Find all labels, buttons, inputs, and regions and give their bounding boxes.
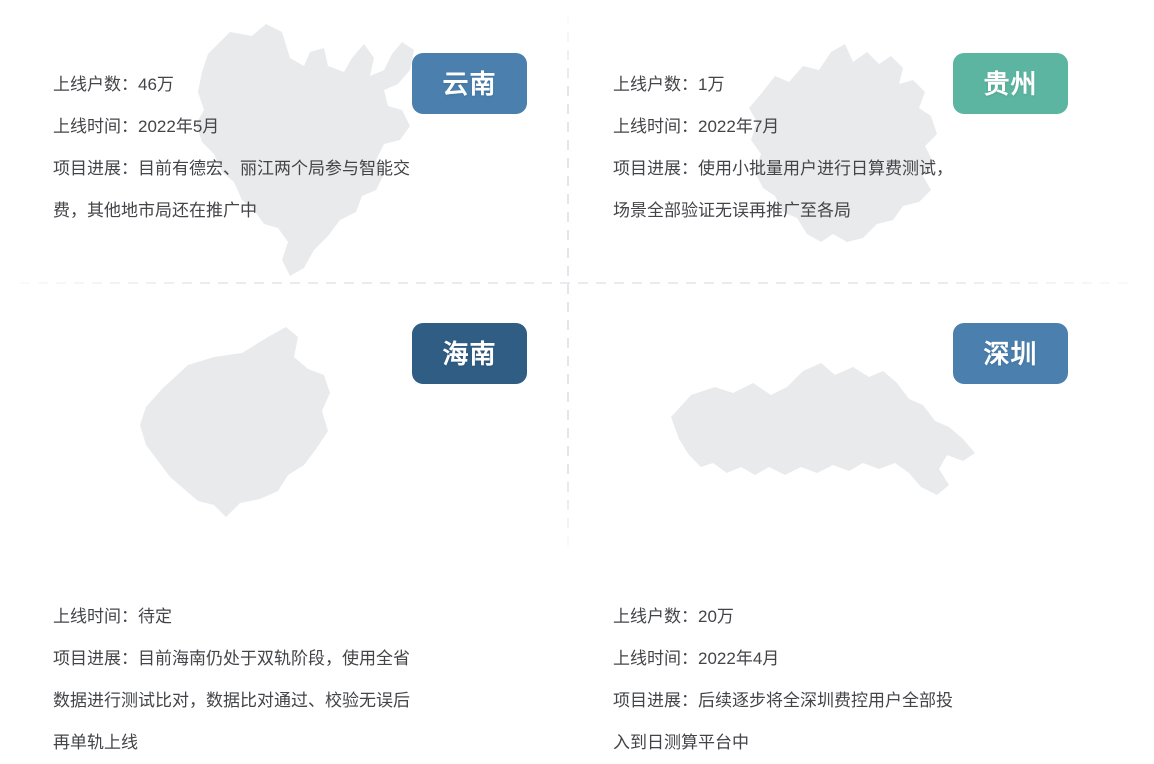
guizhou-line-online-date: 上线时间：2022年7月 (613, 106, 1083, 148)
panel-shenzhen: 深圳 上线户数：20万 上线时间：2022年4月 项目进展：后续逐步将全深圳费控… (587, 283, 1154, 566)
yunnan-line-progress-2: 费，其他地市局还在推广中 (53, 190, 523, 232)
shenzhen-line-online-users: 上线户数：20万 (613, 596, 1083, 638)
guizhou-line-progress-2: 场景全部验证无误再推广至各局 (613, 190, 1083, 232)
badge-hainan[interactable]: 海南 (412, 323, 527, 384)
guizhou-line-online-users: 上线户数：1万 (613, 64, 1083, 106)
badge-shenzhen[interactable]: 深圳 (953, 323, 1068, 384)
shenzhen-city-map-icon (657, 343, 987, 523)
yunnan-detail-text: 上线户数：46万 上线时间：2022年5月 项目进展：目前有德宏、丽江两个局参与… (53, 64, 523, 232)
shenzhen-line-progress-2: 入到日测算平台中 (613, 722, 1083, 764)
hainan-line-progress-2: 数据进行测试比对，数据比对通过、校验无误后 (53, 680, 523, 722)
guizhou-detail-text: 上线户数：1万 上线时间：2022年7月 项目进展：使用小批量用户进行日算费测试… (613, 64, 1083, 232)
vertical-dashed-divider (567, 14, 569, 552)
shenzhen-line-progress-1: 项目进展：后续逐步将全深圳费控用户全部投 (613, 680, 1083, 722)
hainan-province-map-icon (118, 313, 358, 545)
badge-hainan-label: 海南 (442, 341, 496, 367)
badge-shenzhen-label: 深圳 (983, 341, 1037, 367)
hainan-line-progress-3: 再单轨上线 (53, 722, 523, 764)
panel-hainan: 海南 上线时间：待定 项目进展：目前海南仍处于双轨阶段，使用全省 数据进行测试比… (0, 283, 567, 566)
yunnan-line-online-date: 上线时间：2022年5月 (53, 106, 523, 148)
panel-yunnan: 云南 上线户数：46万 上线时间：2022年5月 项目进展：目前有德宏、丽江两个… (0, 0, 567, 283)
yunnan-line-progress-1: 项目进展：目前有德宏、丽江两个局参与智能交 (53, 148, 523, 190)
hainan-line-online-date: 上线时间：待定 (53, 596, 523, 638)
panel-guizhou: 贵州 上线户数：1万 上线时间：2022年7月 项目进展：使用小批量用户进行日算… (587, 0, 1154, 283)
province-status-board: 云南 上线户数：46万 上线时间：2022年5月 项目进展：目前有德宏、丽江两个… (0, 0, 1154, 566)
hainan-line-progress-1: 项目进展：目前海南仍处于双轨阶段，使用全省 (53, 638, 523, 680)
shenzhen-detail-text: 上线户数：20万 上线时间：2022年4月 项目进展：后续逐步将全深圳费控用户全… (613, 596, 1083, 764)
yunnan-line-online-users: 上线户数：46万 (53, 64, 523, 106)
shenzhen-line-online-date: 上线时间：2022年4月 (613, 638, 1083, 680)
guizhou-line-progress-1: 项目进展：使用小批量用户进行日算费测试， (613, 148, 1083, 190)
hainan-detail-text: 上线时间：待定 项目进展：目前海南仍处于双轨阶段，使用全省 数据进行测试比对，数… (53, 596, 523, 764)
